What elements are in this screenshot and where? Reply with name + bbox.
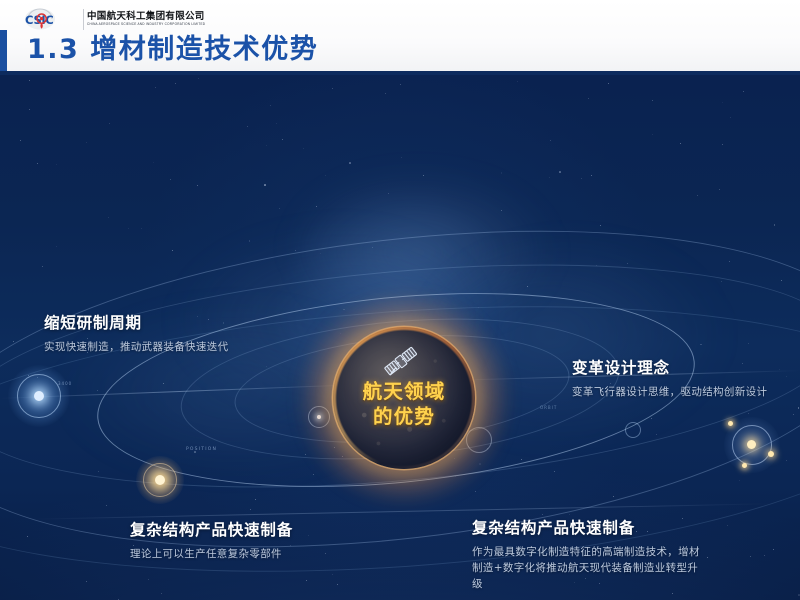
star [332, 88, 333, 89]
star [325, 553, 326, 554]
star [798, 594, 800, 596]
star [748, 413, 749, 414]
star [332, 574, 333, 575]
star [697, 195, 698, 196]
star [161, 593, 162, 594]
callout-title: 变革设计理念 [572, 358, 790, 379]
star [542, 514, 543, 515]
star [550, 140, 551, 141]
star [109, 123, 110, 124]
star [559, 171, 561, 173]
orbit-tick-label: ORBIT [540, 405, 557, 410]
star [651, 418, 652, 419]
star [306, 580, 307, 581]
star [680, 143, 681, 144]
orbit-node-satellite-dot [742, 463, 747, 468]
star [170, 179, 171, 180]
star [276, 123, 277, 124]
callout-title: 复杂结构产品快速制备 [130, 520, 293, 541]
orbit-node-small-c [624, 421, 642, 439]
header-accent-bar [0, 30, 7, 71]
callout-shorten-cycle: 缩短研制周期 实现快速制造，推动武器装备快速迭代 [44, 313, 228, 355]
star [266, 366, 267, 367]
star [372, 247, 373, 248]
star [98, 471, 99, 472]
star [108, 217, 110, 219]
star [739, 480, 740, 481]
star [27, 536, 28, 537]
star [672, 593, 673, 594]
star [249, 240, 251, 242]
star [385, 93, 386, 94]
star [750, 556, 751, 557]
star [305, 454, 306, 455]
header-underline [0, 71, 800, 75]
star [501, 210, 502, 211]
callout-complex-structure-right: 复杂结构产品快速制备 作为最具数字化制造特征的高端制造技术，增材制造+数字化将推… [472, 518, 722, 592]
logo-company-cn: 中国航天科工集团有限公司 [87, 11, 205, 22]
star [295, 250, 296, 251]
star [781, 280, 782, 281]
star [325, 175, 326, 176]
star [255, 499, 257, 501]
star [652, 134, 653, 135]
star [730, 117, 731, 118]
slide-header: C SIC 中国航天科工集团有限公司 CHINA AEROSPACE SCIEN… [0, 0, 800, 71]
star [569, 514, 570, 515]
callout-design-concept: 变革设计理念 变革飞行器设计思维，驱动结构创新设计 [572, 358, 790, 400]
star [313, 474, 314, 475]
star [388, 193, 389, 194]
callout-complex-structure-left: 复杂结构产品快速制备 理论上可以生产任意复杂零部件 [130, 520, 293, 562]
star [308, 535, 309, 536]
star [13, 341, 14, 342]
callout-desc: 实现快速制造，推动武器装备快速迭代 [44, 339, 228, 355]
star [282, 139, 283, 140]
star [627, 263, 628, 264]
star [517, 81, 518, 82]
star [28, 375, 29, 376]
star [250, 509, 251, 510]
star [128, 228, 129, 229]
star [608, 83, 609, 84]
svg-text:C: C [25, 13, 33, 27]
callout-desc: 理论上可以生产任意复杂零部件 [130, 546, 293, 562]
star [29, 80, 30, 81]
central-planet: 航天领域 的优势 [333, 327, 475, 469]
star [175, 83, 176, 84]
orbit-node-satellite-dot [768, 451, 774, 457]
central-title: 航天领域 的优势 [333, 379, 475, 429]
star [748, 343, 749, 344]
star [549, 177, 550, 178]
star [247, 126, 248, 127]
star [97, 390, 98, 391]
star [29, 109, 30, 110]
cosic-logo-icon: C SIC [24, 8, 78, 31]
space-scene: 3400 POSITION ORBIT [0, 75, 800, 600]
star [722, 144, 723, 145]
star [719, 189, 720, 190]
star [475, 491, 476, 492]
star [798, 407, 800, 409]
star [153, 162, 154, 163]
star [303, 148, 304, 149]
star [501, 172, 503, 174]
star [155, 87, 156, 88]
orbit-node-satellite-dot [728, 421, 733, 426]
callout-title: 缩短研制周期 [44, 313, 228, 334]
star [652, 100, 653, 101]
star [141, 228, 142, 229]
star [423, 175, 424, 176]
star [613, 496, 614, 497]
star [700, 344, 702, 346]
star [279, 208, 280, 209]
star [172, 250, 173, 251]
callout-desc: 作为最具数字化制造特征的高端制造技术，增材制造+数字化将推动航天现代装备制造业转… [472, 544, 704, 592]
star [729, 261, 730, 262]
star [86, 142, 87, 143]
star [721, 281, 722, 282]
star [596, 265, 597, 266]
central-title-line2: 的优势 [333, 404, 475, 429]
star [774, 224, 776, 226]
slide-root: C SIC 中国航天科工集团有限公司 CHINA AEROSPACE SCIEN… [0, 0, 800, 600]
star [400, 84, 401, 85]
callout-desc: 变革飞行器设计思维，驱动结构创新设计 [572, 384, 772, 400]
star [20, 140, 21, 141]
logo-company-en: CHINA AEROSPACE SCIENCE AND INDUSTRY COR… [87, 22, 205, 27]
star [554, 471, 555, 472]
star [722, 102, 723, 103]
orbit-node-right [724, 417, 780, 473]
star [773, 549, 774, 550]
star [56, 164, 57, 165]
star [764, 555, 765, 556]
star [743, 91, 744, 92]
star [786, 460, 787, 461]
star [197, 185, 198, 186]
star [581, 178, 582, 179]
orbit-tick-label: POSITION [186, 447, 217, 452]
star [656, 434, 657, 435]
star [478, 307, 479, 308]
star [198, 78, 199, 79]
star [163, 383, 164, 384]
star [86, 581, 87, 582]
star [42, 266, 43, 267]
star [600, 225, 601, 226]
star [148, 579, 149, 580]
callout-title: 复杂结构产品快速制备 [472, 518, 722, 539]
central-title-line1: 航天领域 [333, 379, 475, 404]
star [264, 184, 266, 186]
star [401, 157, 402, 158]
orbit-tick-label: 3400 [58, 381, 72, 386]
star [527, 286, 528, 287]
page-title: 1.3 增材制造技术优势 [27, 33, 318, 67]
star [349, 162, 351, 164]
orbit-node-left-lower [136, 456, 184, 504]
star [588, 98, 589, 99]
star [266, 145, 267, 146]
star [521, 459, 522, 460]
star [727, 525, 728, 526]
star [56, 246, 57, 247]
star [320, 253, 321, 254]
star [591, 175, 592, 176]
satellite-icon [379, 341, 423, 383]
star [37, 377, 38, 378]
star [270, 105, 271, 106]
star [316, 206, 317, 207]
star [106, 505, 107, 506]
company-logo: C SIC 中国航天科工集团有限公司 CHINA AEROSPACE SCIEN… [24, 7, 205, 31]
star [793, 414, 794, 415]
logo-text-block: 中国航天科工集团有限公司 CHINA AEROSPACE SCIENCE AND… [83, 9, 205, 30]
star [337, 584, 338, 585]
star [37, 163, 38, 164]
